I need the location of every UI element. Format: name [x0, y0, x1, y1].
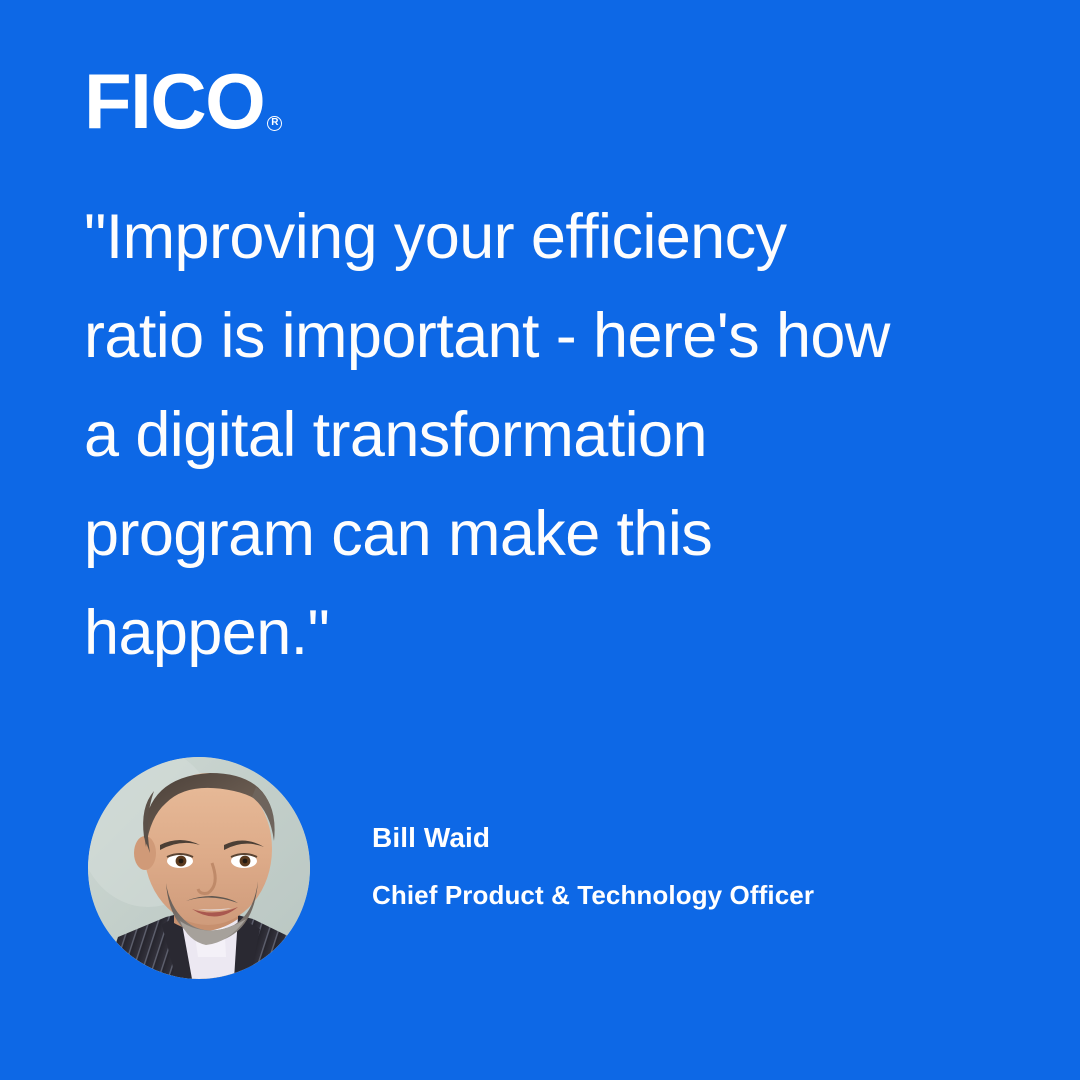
fico-logo-wordmark: FICO — [84, 70, 264, 134]
attribution-block: Bill Waid Chief Product & Technology Off… — [88, 757, 814, 979]
registered-trademark-letter: R — [268, 116, 281, 129]
portrait-illustration — [88, 757, 310, 979]
registered-trademark-icon: R — [267, 116, 282, 131]
person-name: Bill Waid — [372, 822, 814, 854]
avatar — [88, 757, 310, 979]
quote-line: ratio is important - here's how — [84, 287, 1004, 386]
quote-card: FICO R "Improving your efficiency ratio … — [0, 0, 1080, 1080]
person-title: Chief Product & Technology Officer — [372, 880, 814, 911]
quote-line: a digital transformation — [84, 386, 1004, 485]
quote-line: happen." — [84, 584, 1004, 683]
person-info: Bill Waid Chief Product & Technology Off… — [372, 822, 814, 915]
quote-line: "Improving your efficiency — [84, 188, 1004, 287]
quote-line: program can make this — [84, 485, 1004, 584]
fico-logo: FICO R — [84, 70, 282, 134]
quote-text: "Improving your efficiency ratio is impo… — [84, 188, 1004, 683]
